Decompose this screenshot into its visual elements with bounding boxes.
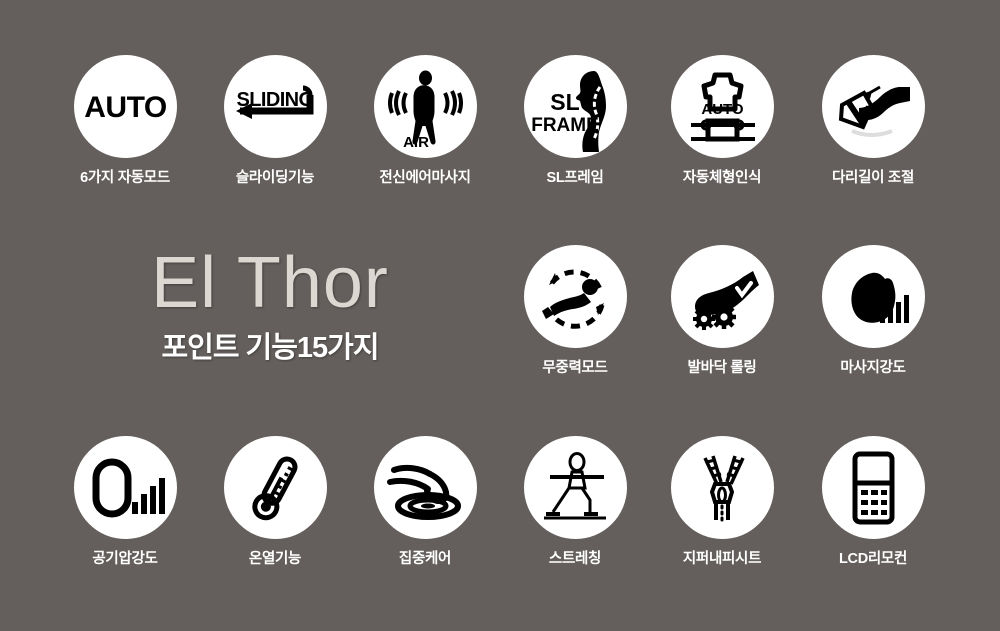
feature-label: 온열기능 — [200, 552, 350, 567]
feature-label: SL프레임 — [500, 171, 650, 186]
feature-label: 전신에어마사지 — [350, 171, 500, 186]
feature-label: 스트레칭 — [500, 552, 650, 567]
feature-label: 마사지강도 — [798, 361, 948, 376]
feature-item-auto-body-scan[interactable]: AUTO 자동체형인식 — [647, 55, 797, 186]
focus-care-hand-icon — [374, 436, 477, 539]
feature-item-lcd-remote[interactable]: LCD리모컨 — [798, 436, 948, 567]
feature-item-air-massage[interactable]: AIR 전신에어마사지 — [350, 55, 500, 186]
feature-item-stretching[interactable]: 스트레칭 — [500, 436, 650, 567]
thermometer-icon — [224, 436, 327, 539]
feature-item-foot-rolling[interactable]: 발바닥 롤링 — [647, 245, 797, 376]
feature-item-leg-length[interactable]: 다리길이 조절 — [798, 55, 948, 186]
brand-subtitle: 포인트 기능15가지 — [120, 324, 420, 366]
svg-text:AIR: AIR — [403, 134, 429, 151]
feature-label: 무중력모드 — [500, 361, 650, 376]
feature-item-sl-frame[interactable]: SL FRAME SL프레임 — [500, 55, 650, 186]
svg-text:AUTO: AUTO — [701, 101, 744, 118]
full-body-air-icon: AIR — [374, 55, 477, 158]
air-pressure-icon — [74, 436, 177, 539]
feature-label: 자동체형인식 — [647, 171, 797, 186]
zipper-icon — [671, 436, 774, 539]
feature-item-heating[interactable]: 온열기능 — [200, 436, 350, 567]
massage-strength-icon — [822, 245, 925, 348]
feature-item-air-pressure[interactable]: 공기압강도 — [50, 436, 200, 567]
auto-body-scan-icon: AUTO — [671, 55, 774, 158]
brand-block: El Thor 포인트 기능15가지 — [120, 250, 420, 366]
svg-text:FRAME: FRAME — [531, 115, 599, 136]
feature-item-sliding[interactable]: SLIDING 슬라이딩기능 — [200, 55, 350, 186]
feature-label: 6가지 자동모드 — [50, 171, 200, 186]
feature-label: 발바닥 롤링 — [647, 361, 797, 376]
feature-label: 집중케어 — [350, 552, 500, 567]
feature-item-auto-mode[interactable]: AUTO 6가지 자동모드 — [50, 55, 200, 186]
feature-board: AUTO 6가지 자동모드 SLIDING 슬라이딩기능 — [0, 0, 1000, 631]
brand-title: El Thor — [120, 250, 420, 316]
sl-frame-icon: SL FRAME — [524, 55, 627, 158]
lcd-remote-icon — [822, 436, 925, 539]
feature-label: 공기압강도 — [50, 552, 200, 567]
auto-text-icon: AUTO — [74, 55, 177, 158]
feature-item-zero-gravity[interactable]: 무중력모드 — [500, 245, 650, 376]
stretching-icon — [524, 436, 627, 539]
foot-rolling-icon — [671, 245, 774, 348]
feature-item-focus-care[interactable]: 집중케어 — [350, 436, 500, 567]
feature-item-massage-strength[interactable]: 마사지강도 — [798, 245, 948, 376]
feature-label: LCD리모컨 — [798, 552, 948, 567]
leg-length-hand-icon — [822, 55, 925, 158]
feature-label: 슬라이딩기능 — [200, 171, 350, 186]
svg-text:SL: SL — [550, 89, 579, 115]
svg-text:AUTO: AUTO — [84, 91, 167, 124]
sliding-arrow-icon: SLIDING — [224, 55, 327, 158]
feature-item-zipper-cover[interactable]: 지퍼내피시트 — [647, 436, 797, 567]
feature-label: 다리길이 조절 — [798, 171, 948, 186]
zero-gravity-icon — [524, 245, 627, 348]
feature-label: 지퍼내피시트 — [647, 552, 797, 567]
